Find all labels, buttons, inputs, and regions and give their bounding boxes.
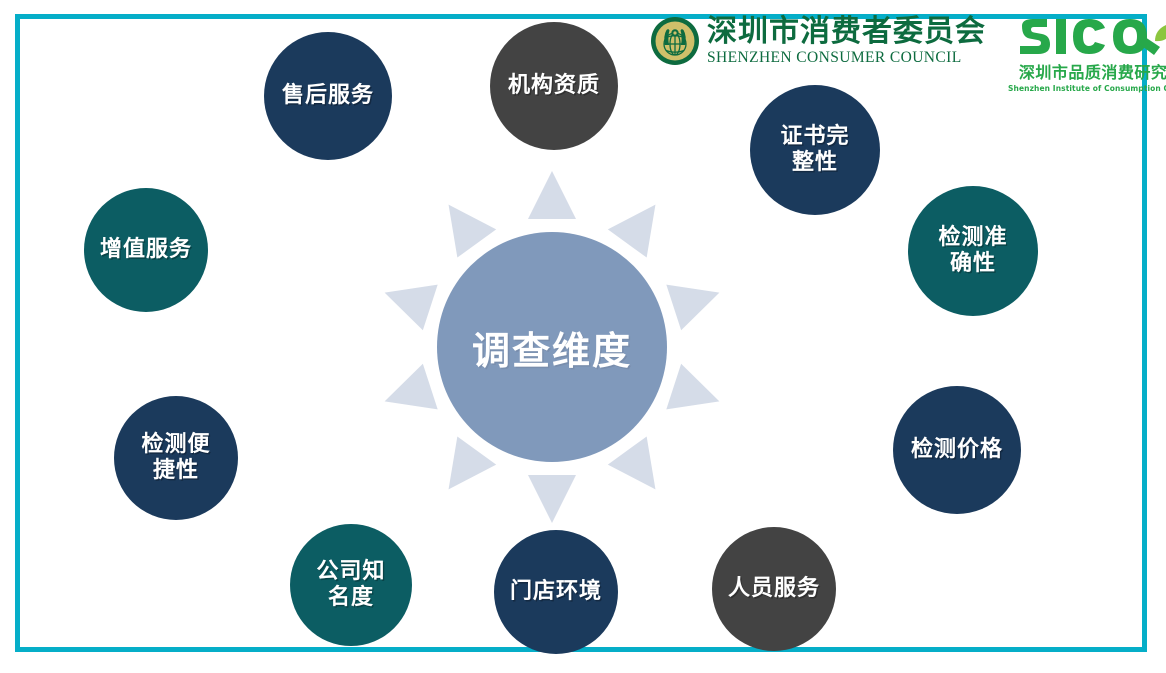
sunburst-ray	[666, 364, 719, 410]
dimension-bubble-label: 证书完整性	[774, 124, 855, 175]
dimension-bubble-label: 检测价格	[905, 437, 1009, 463]
shenzhen-consumer-council-emblem	[650, 16, 700, 66]
dimension-bubble-label: 公司知名度	[310, 559, 391, 610]
dimension-bubble-label: 增值服务	[94, 237, 198, 263]
sunburst-ray	[385, 285, 438, 331]
dimension-bubble-label: 机构资质	[502, 73, 606, 99]
dimension-bubble[interactable]: 检测准确性	[908, 186, 1038, 316]
dimension-bubble[interactable]: 检测便捷性	[114, 396, 238, 520]
sunburst-ray	[666, 285, 719, 331]
dimension-bubble-label: 检测便捷性	[135, 432, 216, 483]
center-hub: 调查维度	[437, 232, 667, 462]
dimension-bubble[interactable]: 增值服务	[84, 188, 208, 312]
sicq-name-cn: 深圳市品质消费研究院	[1019, 59, 1166, 83]
dimension-bubble[interactable]: 售后服务	[264, 32, 392, 160]
center-hub-label: 调查维度	[472, 320, 632, 375]
dimension-bubble[interactable]: 门店环境	[494, 530, 618, 654]
slide-canvas: 调查维度 售后服务机构资质证书完整性检测准确性检测价格人员服务门店环境公司知名度…	[0, 0, 1166, 673]
sunburst-ray	[449, 436, 497, 489]
sunburst-ray	[608, 436, 656, 489]
dimension-bubble[interactable]: 公司知名度	[290, 524, 412, 646]
sunburst-ray	[528, 475, 576, 523]
dimension-bubble[interactable]: 证书完整性	[750, 85, 880, 215]
sicq-wordmark-icon	[1016, 16, 1166, 58]
dimension-bubble-label: 售后服务	[276, 83, 380, 109]
sunburst-ray	[528, 171, 576, 219]
dimension-bubble[interactable]: 人员服务	[712, 527, 836, 651]
dimension-bubble-label: 门店环境	[504, 579, 608, 605]
sicq-logo: 深圳市品质消费研究院 Shenzhen Institute of Consump…	[1008, 16, 1166, 93]
dimension-bubble[interactable]: 检测价格	[893, 386, 1021, 514]
dimension-bubble-label: 检测准确性	[932, 225, 1013, 276]
sicq-name-en: Shenzhen Institute of Consumption Qualit…	[1008, 84, 1166, 93]
logo-row: 深圳市消费者委员会 SHENZHEN CONSUMER COUNCIL 深圳市品…	[650, 16, 1166, 93]
dimension-bubble[interactable]: 机构资质	[490, 22, 618, 150]
sunburst-ray	[608, 205, 656, 258]
council-name-en: SHENZHEN CONSUMER COUNCIL	[707, 50, 986, 66]
shenzhen-consumer-council-text: 深圳市消费者委员会 SHENZHEN CONSUMER COUNCIL	[707, 17, 986, 66]
dimension-bubble-label: 人员服务	[722, 576, 826, 602]
sunburst-ray	[385, 364, 438, 410]
council-name-cn: 深圳市消费者委员会	[707, 17, 986, 47]
shenzhen-consumer-council-logo: 深圳市消费者委员会 SHENZHEN CONSUMER COUNCIL	[650, 16, 986, 66]
